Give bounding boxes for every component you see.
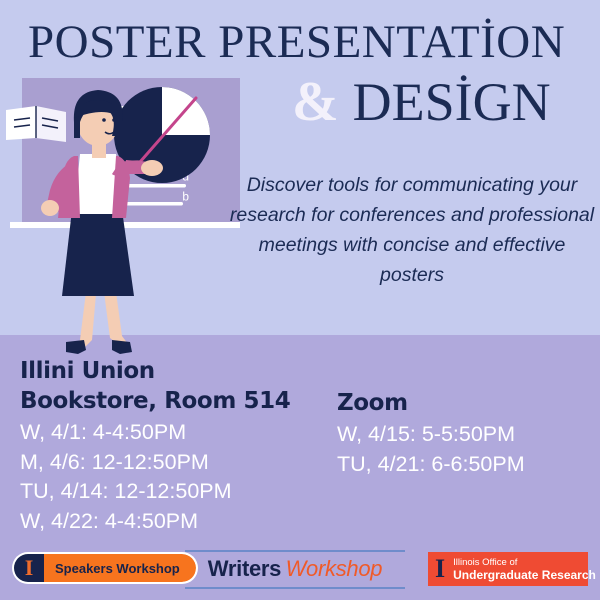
shoe <box>66 340 86 354</box>
poster-canvas: p q <box>0 0 600 600</box>
speakers-workshop-logo[interactable]: I Speakers Workshop <box>12 552 198 584</box>
page-title-line1: POSTER PRESENTATİON <box>28 17 583 67</box>
ugr-line1: Illinois Office of <box>453 557 596 569</box>
poster-description: Discover tools for communicating your re… <box>228 170 596 290</box>
workshop-word: Workshop <box>286 556 383 581</box>
session-list: W, 4/15: 5-5:50PM TU, 4/21: 6-6:50PM <box>337 420 592 479</box>
schedule-column-zoom: Zoom W, 4/15: 5-5:50PM TU, 4/21: 6-6:50P… <box>337 388 592 479</box>
footer-logo-bar: I Speakers Workshop Writers Workshop I I… <box>0 548 600 594</box>
writers-word: Writers <box>208 556 281 581</box>
page-title-line2: &DESİGN <box>292 73 551 131</box>
ampersand: & <box>292 71 339 133</box>
shoe <box>112 340 132 354</box>
board-glyph: q <box>182 191 189 205</box>
session-list: W, 4/1: 4-4:50PM M, 4/6: 12-12:50PM TU, … <box>20 418 340 536</box>
undergraduate-research-logo[interactable]: I Illinois Office of Undergraduate Resea… <box>428 552 588 586</box>
hand <box>41 200 59 216</box>
speakers-workshop-label: Speakers Workshop <box>44 554 196 582</box>
presenter-illustration: p q <box>0 78 240 360</box>
venue-name-zoom: Zoom <box>337 388 592 418</box>
title-design-word: DESİGN <box>353 72 551 132</box>
skirt <box>62 210 134 296</box>
session-item: TU, 4/21: 6-6:50PM <box>337 450 592 480</box>
venue-name-line2: Bookstore, Room 514 <box>20 386 340 416</box>
session-item: W, 4/1: 4-4:50PM <box>20 418 340 448</box>
eye <box>102 118 106 122</box>
illinois-i-icon: I <box>14 554 44 582</box>
illinois-i-icon: I <box>435 556 445 582</box>
session-item: W, 4/22: 4-4:50PM <box>20 507 340 537</box>
hand <box>141 160 163 176</box>
session-item: M, 4/6: 12-12:50PM <box>20 448 340 478</box>
open-book <box>6 106 66 142</box>
venue-name-line1: Illini Union <box>20 356 340 386</box>
session-item: TU, 4/14: 12-12:50PM <box>20 477 340 507</box>
board-ledge <box>10 222 240 228</box>
session-item: W, 4/15: 5-5:50PM <box>337 420 592 450</box>
schedule-column-in-person: Illini Union Bookstore, Room 514 W, 4/1:… <box>20 356 340 536</box>
writers-workshop-logo[interactable]: Writers Workshop <box>185 550 405 589</box>
ugr-line2: Undergraduate Research <box>453 569 596 582</box>
eye <box>112 118 116 122</box>
